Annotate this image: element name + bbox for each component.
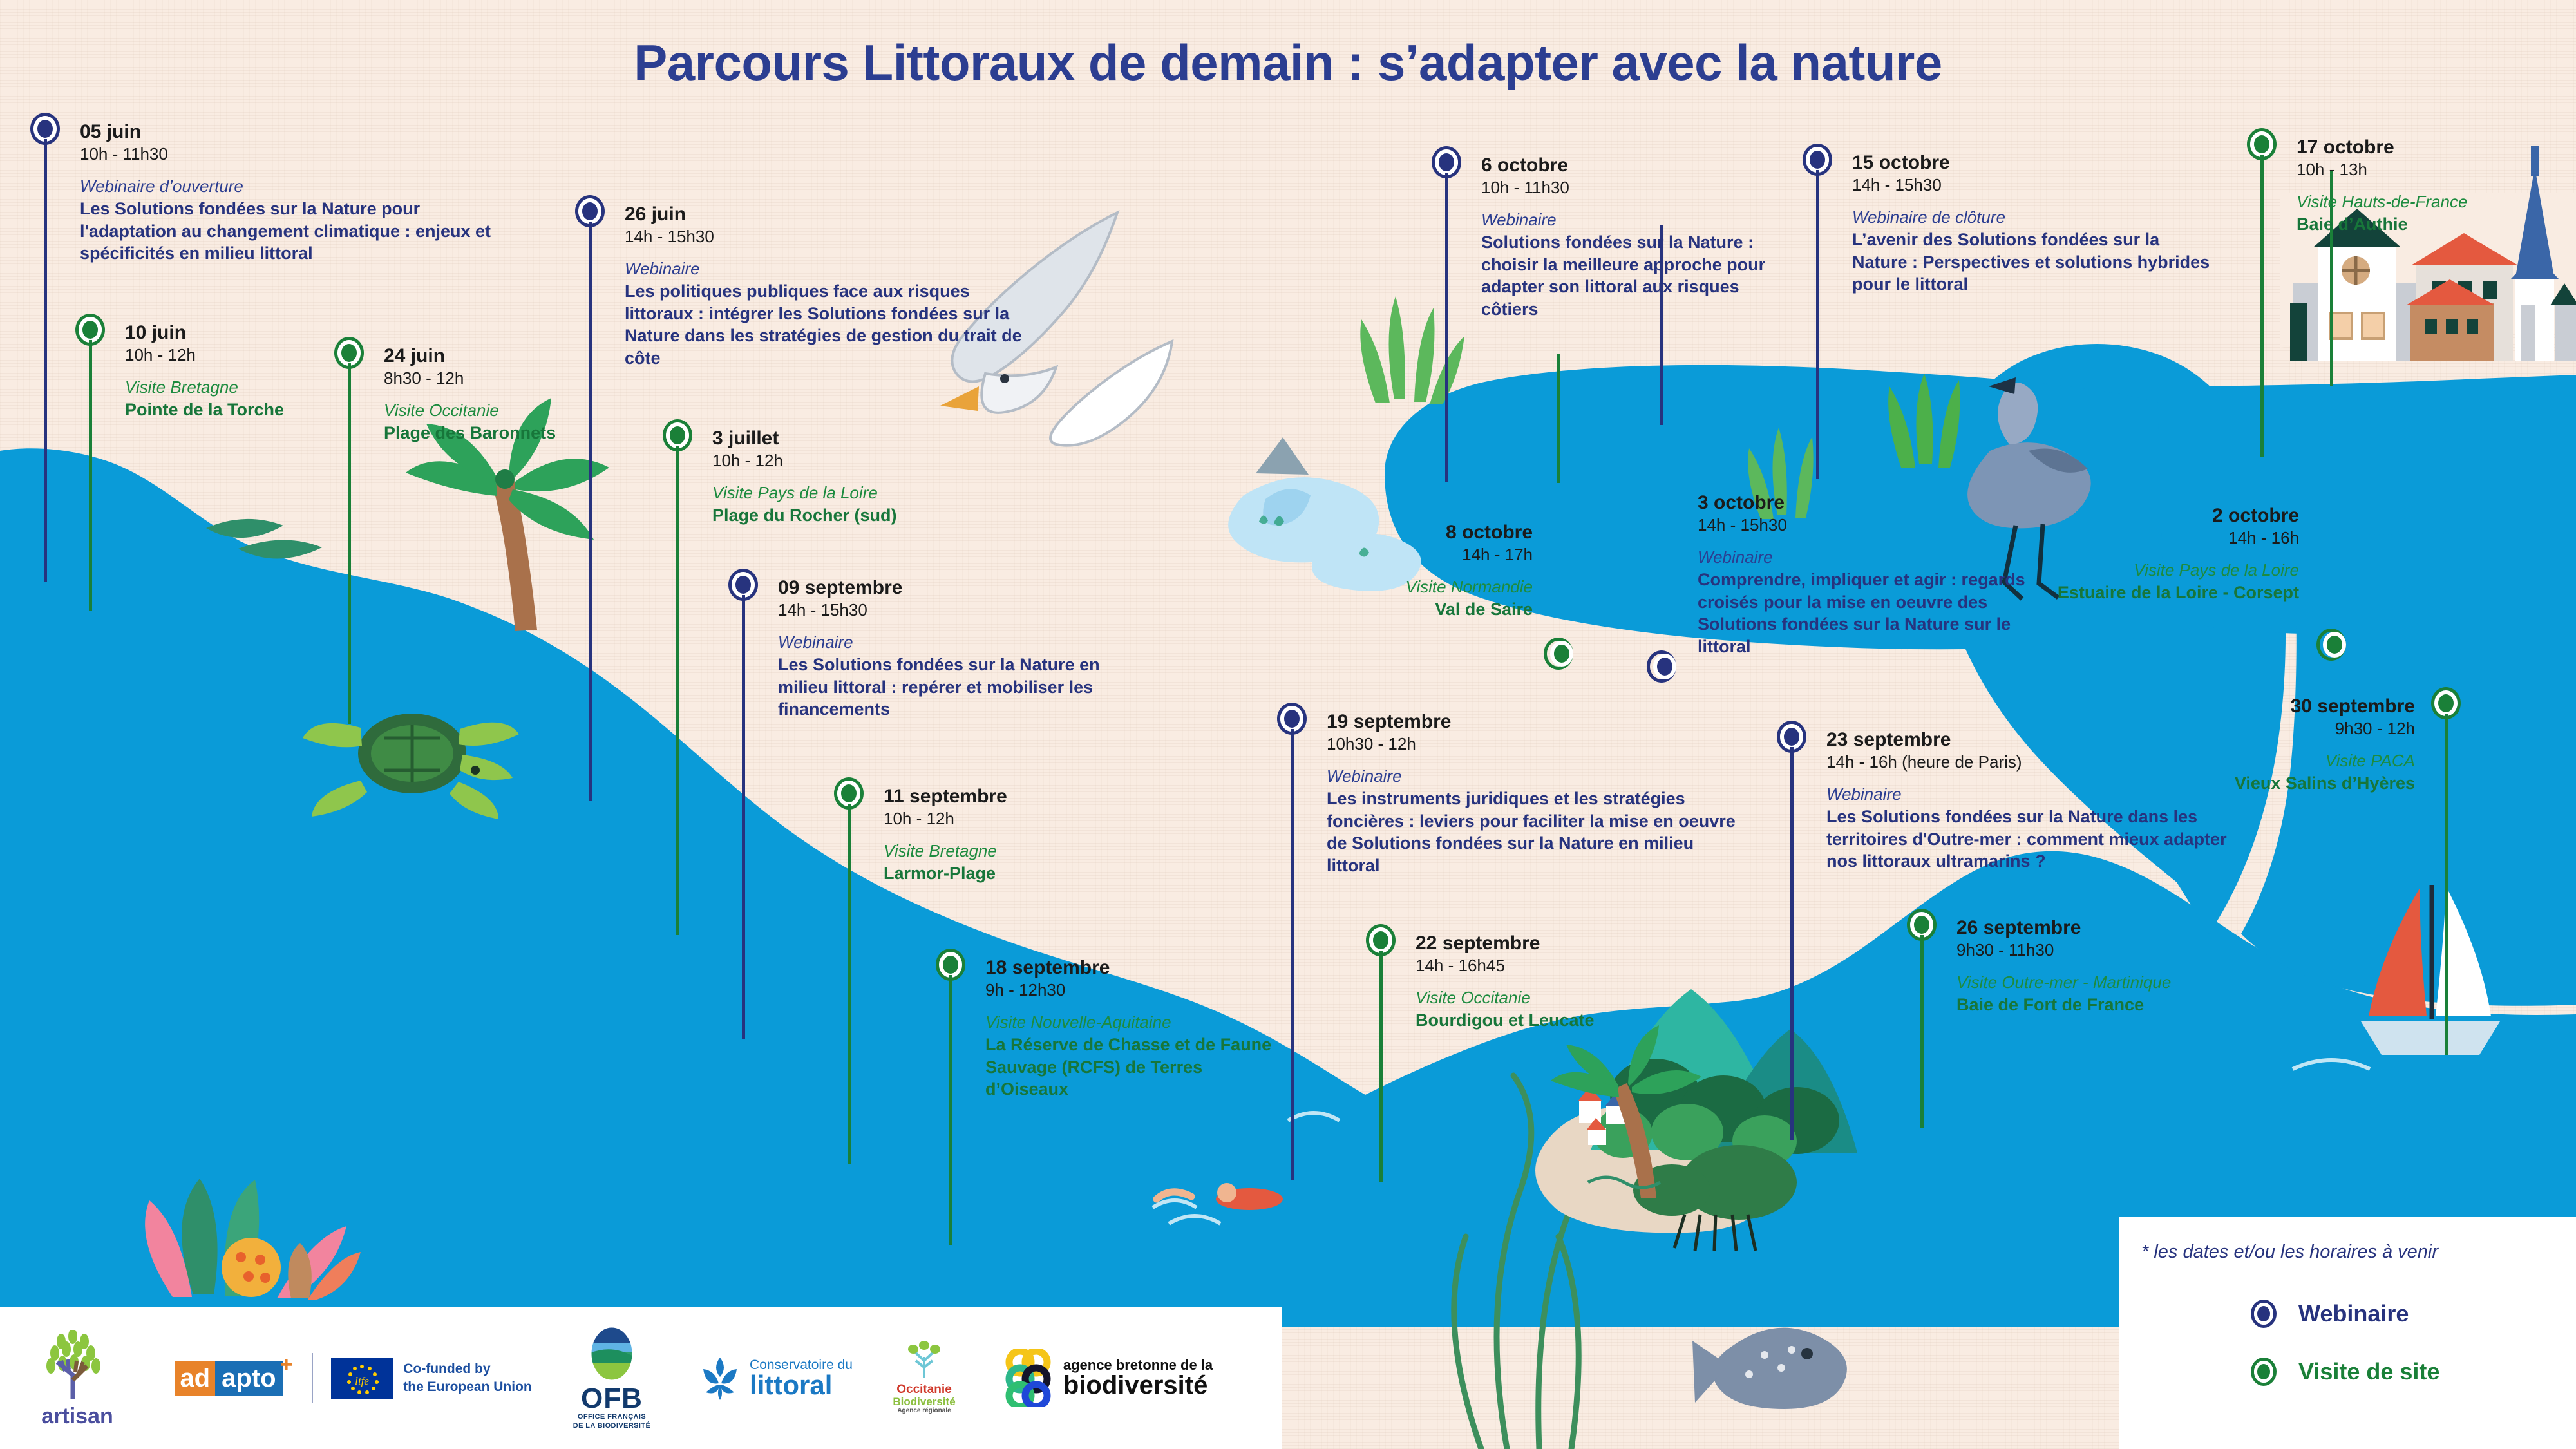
event-time: 14h - 15h30 (1698, 516, 2058, 535)
event-kind: Visite Bretagne (125, 377, 395, 399)
event-kind: Webinaire de clôture (1852, 207, 2213, 229)
event-date: 22 septembre (1416, 933, 1673, 954)
event-card-09-septembre: 09 septembre 14h - 15h30 Webinaire Les S… (778, 577, 1139, 721)
event-date: 05 juin (80, 121, 492, 143)
event-desc: Baie d’Authie (2297, 213, 2576, 236)
event-time: 10h - 12h (884, 810, 1160, 829)
fish-illustration (1692, 1328, 1847, 1409)
event-card-18-septembre: 18 septembre 9h - 12h30 Visite Nouvelle-… (985, 957, 1288, 1101)
ofb-emblem-icon (587, 1326, 636, 1381)
event-kind: Webinaire (625, 258, 1037, 280)
event-desc: Les instruments juridiques et les straté… (1327, 788, 1739, 876)
visit-marker-icon (2251, 1358, 2277, 1386)
pin-stem (1790, 747, 1794, 1140)
event-date: 19 septembre (1327, 711, 1739, 733)
pin-dot (837, 781, 860, 806)
event-desc: Les politiques publiques face aux risque… (625, 280, 1037, 369)
event-date: 3 octobre (1698, 492, 2058, 514)
event-kind: Visite Bretagne (884, 840, 1160, 862)
pin-dot (1435, 149, 1458, 175)
page-title: Parcours Littoraux de demain : s’adapter… (0, 33, 2576, 92)
pin-dot (1910, 912, 1933, 938)
logo-artisan: artisan (0, 1307, 155, 1449)
pin-stem (1291, 729, 1294, 1180)
event-desc: Pointe de la Torche (125, 399, 395, 421)
event-kind: Visite Outre-mer - Martinique (1956, 972, 2266, 994)
event-kind: Visite Hauts-de-France (2297, 191, 2576, 213)
pin-dot (578, 198, 601, 224)
event-desc: Plage du Rocher (sud) (712, 504, 1002, 527)
event-desc: La Réserve de Chasse et de Faune Sauvage… (985, 1034, 1288, 1101)
event-time: 10h - 12h (712, 451, 1002, 471)
event-date: 09 septembre (778, 577, 1139, 599)
logo-eu-life: life Co-funded by the European Union (322, 1307, 541, 1449)
pin-stem (2445, 714, 2448, 1055)
event-date: 15 octobre (1852, 152, 2213, 174)
event-time: 10h - 13h (2297, 160, 2576, 180)
event-desc: Les Solutions fondées sur la Nature dans… (1826, 806, 2239, 873)
ofb-abbr: OFB (573, 1385, 650, 1413)
event-kind: Webinaire (1327, 766, 1739, 788)
event-card-26-septembre: 26 septembre 9h30 - 11h30 Visite Outre-m… (1956, 917, 2266, 1016)
pin-stem (589, 222, 592, 801)
event-desc: Larmor-Plage (884, 862, 1160, 885)
event-desc: Comprendre, impliquer et agir : regards … (1698, 569, 2058, 658)
pin-dot (1806, 147, 1829, 173)
ofb-sub2: DE LA BIODIVERSITÉ (573, 1422, 650, 1430)
abb-loops-icon (1003, 1349, 1053, 1407)
adapto-prefix: ad (175, 1361, 215, 1396)
event-card-24-juin: 24 juin 8h30 - 12h Visite Occitanie Plag… (384, 345, 661, 444)
legend-row-webinaire: Webinaire (2251, 1300, 2409, 1328)
abb-line1: agence bretonne de la (1063, 1358, 1213, 1372)
event-date: 11 septembre (884, 786, 1160, 808)
legend-label-visite: Visite de site (2298, 1358, 2439, 1385)
event-time: 10h - 11h30 (1481, 178, 1790, 198)
pin-stem (1445, 173, 1448, 482)
pin-dot (732, 572, 755, 598)
event-kind: Webinaire (1698, 547, 2058, 569)
pin-stem (676, 446, 679, 935)
event-time: 14h - 16h45 (1416, 956, 1673, 976)
eu-flag-icon: life (331, 1358, 393, 1399)
event-date: 6 octobre (1481, 155, 1790, 176)
legend-box: * les dates et/ou les horaires à venir W… (2119, 1217, 2576, 1449)
occ-line2: Biodiversité (893, 1396, 955, 1408)
webinar-marker-icon (2251, 1300, 2277, 1328)
occitanie-tree-icon (902, 1341, 947, 1380)
event-card-6-octobre: 6 octobre 10h - 11h30 Webinaire Solution… (1481, 155, 1790, 320)
pin-dot (666, 422, 689, 448)
pin-dot (2250, 131, 2273, 157)
event-desc: Les Solutions fondées sur la Nature en m… (778, 654, 1139, 721)
event-card-3-octobre: 3 octobre 14h - 15h30 Webinaire Comprend… (1698, 492, 2058, 658)
abb-line2: biodiversité (1063, 1372, 1213, 1398)
event-date: 26 septembre (1956, 917, 2266, 939)
event-kind: Visite Occitanie (1416, 987, 1673, 1009)
eu-line2: the European Union (403, 1378, 532, 1396)
event-date: 8 octobre (1243, 522, 1533, 544)
occ-line1: Occitanie (893, 1383, 955, 1396)
event-desc: Plage des Baronnets (384, 422, 661, 444)
artisan-tree-icon (35, 1330, 119, 1402)
logo-ofb: OFB OFFICE FRANÇAIS DE LA BIODIVERSITÉ (541, 1307, 683, 1449)
logo-agence-bretonne-biodiversite: agence bretonne de la biodiversité (979, 1307, 1236, 1449)
event-card-30-septembre: 30 septembre 9h30 - 12h Visite PACA Vieu… (2016, 696, 2415, 795)
event-card-8-octobre: 8 octobre 14h - 17h Visite Normandie Val… (1243, 522, 1533, 621)
event-kind: Visite Nouvelle-Aquitaine (985, 1012, 1288, 1034)
event-time: 9h30 - 12h (2016, 719, 2415, 739)
event-card-15-octobre: 15 octobre 14h - 15h30 Webinaire de clôt… (1852, 152, 2213, 296)
pin-dot (1780, 724, 1803, 750)
event-kind: Visite Normandie (1243, 576, 1533, 598)
logo-divider (303, 1307, 322, 1449)
event-kind: Webinaire (1481, 209, 1790, 231)
event-card-19-septembre: 19 septembre 10h30 - 12h Webinaire Les i… (1327, 711, 1739, 876)
pin-stem (742, 595, 745, 1039)
event-time: 10h30 - 12h (1327, 735, 1739, 754)
event-desc: Vieux Salins d’Hyères (2016, 772, 2415, 795)
event-time: 14h - 15h30 (625, 227, 1037, 247)
legend-row-visite: Visite de site (2251, 1358, 2439, 1386)
pin-dot (2434, 690, 2458, 716)
event-card-26-juin: 26 juin 14h - 15h30 Webinaire Les politi… (625, 204, 1037, 369)
pin-dot (33, 116, 57, 142)
infographic-canvas: Parcours Littoraux de demain : s’adapter… (0, 0, 2576, 1449)
event-kind: Webinaire d’ouverture (80, 176, 492, 198)
littoral-leaf-icon (699, 1355, 741, 1401)
pin-stem (89, 340, 92, 611)
event-date: 18 septembre (985, 957, 1288, 979)
event-desc: Solutions fondées sur la Nature : choisi… (1481, 231, 1790, 320)
event-time: 8h30 - 12h (384, 369, 661, 388)
event-card-3-juillet: 3 juillet 10h - 12h Visite Pays de la Lo… (712, 428, 1002, 527)
event-kind: Visite Occitanie (384, 400, 661, 422)
pin-stem (2260, 155, 2264, 457)
eu-life-badge: life (355, 1375, 369, 1387)
event-time: 14h - 15h30 (1852, 176, 2213, 195)
event-date: 3 juillet (712, 428, 1002, 450)
pin-dot (1369, 927, 1392, 953)
pin-dot (337, 340, 361, 366)
event-kind: Visite PACA (2016, 750, 2415, 772)
event-time: 10h - 11h30 (80, 145, 492, 164)
legend-note: * les dates et/ou les horaires à venir (2141, 1242, 2438, 1263)
footer-logo-bar: artisan ad apto + (0, 1307, 1282, 1449)
event-card-10-juin: 10 juin 10h - 12h Visite Bretagne Pointe… (125, 322, 395, 421)
pin-stem (848, 804, 851, 1164)
event-time: 9h - 12h30 (985, 981, 1288, 1000)
event-desc: Les Solutions fondées sur la Nature pour… (80, 198, 492, 265)
adapto-suffix: apto (215, 1361, 282, 1396)
event-time: 14h - 15h30 (778, 601, 1139, 620)
pin-stem (949, 975, 952, 1245)
logo-conservatoire-du-littoral: Conservatoire du littoral (683, 1307, 869, 1449)
occ-line3: Agence régionale (893, 1408, 955, 1415)
event-time: 14h - 17h (1243, 545, 1533, 565)
pin-stem (1816, 170, 1819, 479)
event-date: 26 juin (625, 204, 1037, 225)
legend-label-webinaire: Webinaire (2298, 1300, 2409, 1327)
pin-dot (79, 317, 102, 343)
event-card-22-septembre: 22 septembre 14h - 16h45 Visite Occitani… (1416, 933, 1673, 1032)
event-time: 9h30 - 11h30 (1956, 941, 2266, 960)
event-desc: Val de Saire (1243, 598, 1533, 621)
adapto-plus: + (280, 1352, 293, 1378)
event-kind: Visite Pays de la Loire (712, 482, 1002, 504)
event-desc: Baie de Fort de France (1956, 994, 2266, 1016)
pin-stem (1379, 951, 1383, 1182)
pin-stem (44, 139, 47, 582)
event-date: 17 octobre (2297, 137, 2576, 158)
pin-dot (939, 952, 962, 978)
pin-dot (1653, 654, 1676, 679)
event-card-11-septembre: 11 septembre 10h - 12h Visite Bretagne L… (884, 786, 1160, 885)
event-desc: L’avenir des Solutions fondées sur la Na… (1852, 229, 2213, 296)
eu-line1: Co-funded by (403, 1360, 532, 1378)
pin-stem (1557, 354, 1560, 483)
logo-occitanie-biodiversite: Occitanie Biodiversité Agence régionale (869, 1307, 979, 1449)
event-desc: Bourdigou et Leucate (1416, 1009, 1673, 1032)
grass-tuft-left (1360, 296, 1464, 404)
event-kind: Webinaire (778, 632, 1139, 654)
pin-stem (348, 363, 351, 724)
logo-adapto: ad apto + (155, 1307, 303, 1449)
pin-dot (1550, 641, 1573, 667)
event-card-17-octobre: 17 octobre 10h - 13h Visite Hauts-de-Fra… (2297, 137, 2576, 236)
ofb-sub1: OFFICE FRANÇAIS (573, 1413, 650, 1421)
artisan-wordmark: artisan (35, 1405, 119, 1427)
event-card-05-juin: 05 juin 10h - 11h30 Webinaire d’ouvertur… (80, 121, 492, 265)
event-date: 30 septembre (2016, 696, 2415, 717)
pin-stem (1920, 935, 1924, 1128)
pin-dot (2323, 632, 2346, 658)
event-date: 24 juin (384, 345, 661, 367)
pin-dot (1280, 706, 1303, 732)
cdl-line2: littoral (750, 1372, 853, 1399)
